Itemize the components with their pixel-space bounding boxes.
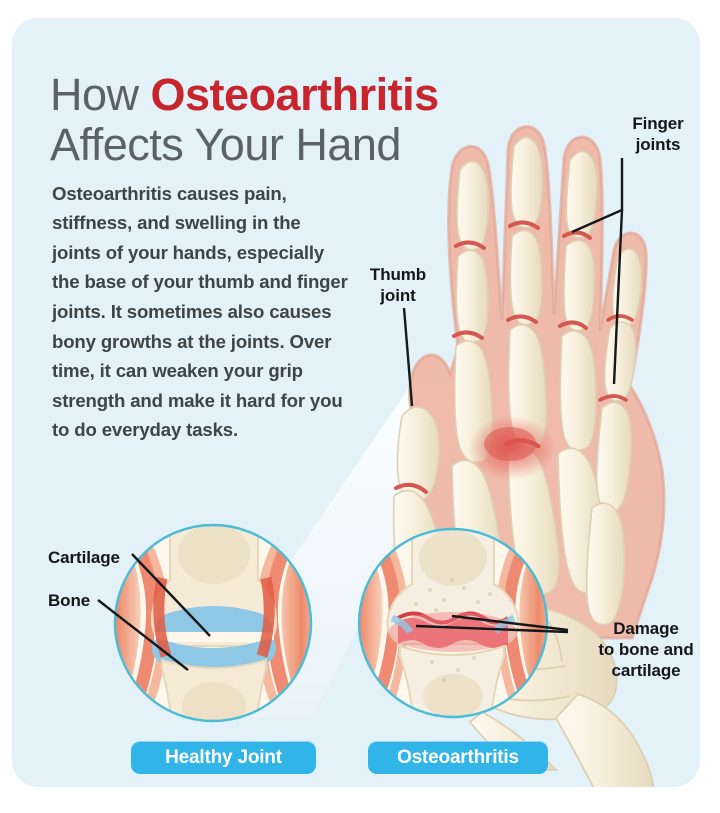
callout-finger-joints: Finger joints <box>608 113 700 155</box>
infographic-canvas: How Osteoarthritis Affects Your Hand Ost… <box>0 0 720 813</box>
callout-finger-joints-line-1: Finger <box>632 114 683 133</box>
callout-finger-joints-line-2: joints <box>636 135 681 154</box>
callout-cartilage: Cartilage <box>48 547 120 568</box>
callout-damage-line-2: to bone and <box>598 640 693 659</box>
label-osteoarthritis: Osteoarthritis <box>368 741 548 774</box>
callout-damage-line-3: cartilage <box>611 661 680 680</box>
healthy-joint-diagram <box>94 516 322 762</box>
body-paragraph: Osteoarthritis causes pain, stiffness, a… <box>52 179 352 445</box>
callout-damage: Damage to bone and cartilage <box>572 618 700 681</box>
callout-thumb-joint-line-2: joint <box>380 286 415 305</box>
title-line-2: Affects Your Hand <box>50 120 570 170</box>
callout-thumb-joint-line-1: Thumb <box>370 265 426 284</box>
callout-bone: Bone <box>48 590 90 611</box>
page-title: How Osteoarthritis Affects Your Hand <box>50 70 570 170</box>
label-healthy-joint: Healthy Joint <box>131 741 316 774</box>
title-lead: How <box>50 69 151 120</box>
title-highlight: Osteoarthritis <box>151 69 439 120</box>
infographic-card: How Osteoarthritis Affects Your Hand Ost… <box>12 18 700 787</box>
callout-thumb-joint: Thumb joint <box>354 264 442 306</box>
callout-damage-line-1: Damage <box>613 619 679 638</box>
